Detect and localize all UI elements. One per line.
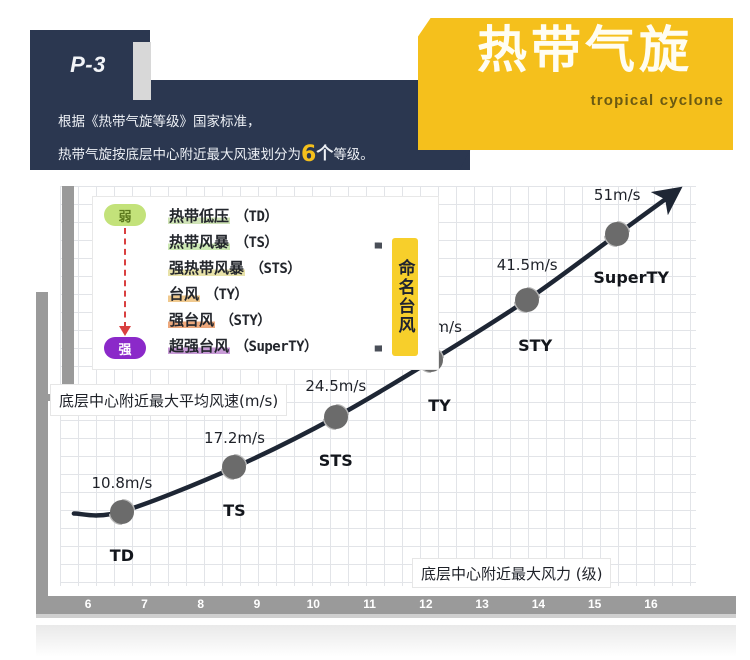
category-code: （STY） [220,310,271,330]
strong-badge-label: 强 [118,339,131,358]
cyclone-marker [512,285,542,315]
page-badge: P-3 [42,42,134,88]
axis-vertical-lower [36,292,48,602]
x-tick-label: 16 [644,597,657,611]
header-subtitle: 根据《热带气旋等级》国家标准， 热带气旋按底层中心附近最大风速划分为6个等级。 [58,110,428,176]
x-tick-label: 15 [588,597,601,611]
named-typhoon-text: 命名台风 [393,259,418,335]
data-point-category: TS [223,501,245,520]
x-tick-label: 14 [532,597,545,611]
intensity-arrow-head-icon [119,326,131,336]
intensity-arrow-line [124,228,126,328]
marker-disc [605,222,629,246]
data-point-category: SuperTY [593,268,669,287]
category-code: （TY） [205,284,248,304]
header-badge-shadow [133,42,151,100]
data-point-value: 51m/s [594,186,641,204]
subtitle-line-2-prefix: 热带气旋按底层中心附近最大风速划分为 [58,147,301,163]
category-list: 热带低压（TD）热带风暴（TS）强热带风暴（STS）台风（TY）强台风（STY）… [168,203,368,359]
x-tick-label: 10 [307,597,320,611]
data-point-value: 17.2m/s [204,429,265,447]
weak-badge-label: 弱 [118,206,131,225]
y-axis-title: 底层中心附近最大平均风速(m/s) [50,384,287,416]
data-point-value: 24.5m/s [305,377,366,395]
data-point-category: STY [518,336,552,355]
title-english: tropical cyclone [440,92,730,109]
category-row: 超强台风（SuperTY） [168,333,368,359]
category-code: （TD） [235,206,278,226]
data-point-category: TY [428,396,451,415]
data-point-category: STS [319,451,353,470]
subtitle-unit: 个 [316,144,333,164]
footer-gradient [36,625,736,657]
marker-disc [324,405,348,429]
cyclone-marker [219,452,249,482]
subtitle-line-2-suffix: 等级。 [333,147,374,163]
x-tick-label: 11 [363,597,376,611]
category-code: （STS） [250,258,301,278]
category-code: （SuperTY） [235,336,318,356]
strong-badge: 强 [104,337,146,359]
x-axis-title-text: 底层中心附近最大风力 (级) [421,563,602,584]
category-code: （TS） [235,232,278,252]
category-name-cn: 热带低压 [168,208,230,225]
x-axis-title: 底层中心附近最大风力 (级) [412,558,611,588]
category-name-cn: 超强台风 [168,338,230,355]
data-point-value: 41.5m/s [497,256,558,274]
category-row: 台风（TY） [168,281,368,307]
page-badge-label: P-3 [70,52,106,78]
cyclone-marker [602,219,632,249]
category-name-cn: 强热带风暴 [168,260,245,277]
cyclone-marker [107,497,137,527]
curly-brace-icon: } [360,232,382,360]
x-tick-label: 7 [141,597,148,611]
x-tick-label: 6 [85,597,92,611]
x-axis-ticks: 678910111213141516 [36,596,736,614]
category-name-cn: 强台风 [168,312,215,329]
x-tick-label: 9 [254,597,261,611]
category-name-cn: 热带风暴 [168,234,230,251]
data-point-category: TD [110,546,134,565]
axis-bottom-shadow [36,614,736,618]
y-axis-title-text: 底层中心附近最大平均风速(m/s) [59,390,278,411]
x-tick-label: 13 [475,597,488,611]
category-row: 强台风（STY） [168,307,368,333]
data-point-value: 10.8m/s [91,474,152,492]
weak-badge: 弱 [104,204,146,226]
category-name-cn: 台风 [168,286,200,303]
marker-disc [222,455,246,479]
category-row: 热带低压（TD） [168,203,368,229]
subtitle-count: 6 [301,142,316,167]
infographic-root: 678910111213141516 10.8m/sTD17.2m/sTS24.… [0,0,750,660]
title-chinese: 热带气旋 [440,24,730,77]
x-tick-label: 12 [419,597,432,611]
subtitle-line-2: 热带气旋按底层中心附近最大风速划分为6个等级。 [58,135,428,176]
category-row: 强热带风暴（STS） [168,255,368,281]
x-tick-label: 8 [197,597,204,611]
named-typhoon-label: 命名台风 [392,238,418,356]
marker-disc [515,288,539,312]
subtitle-line-1: 根据《热带气旋等级》国家标准， [58,110,428,135]
marker-disc [110,500,134,524]
category-row: 热带风暴（TS） [168,229,368,255]
cyclone-marker [321,402,351,432]
